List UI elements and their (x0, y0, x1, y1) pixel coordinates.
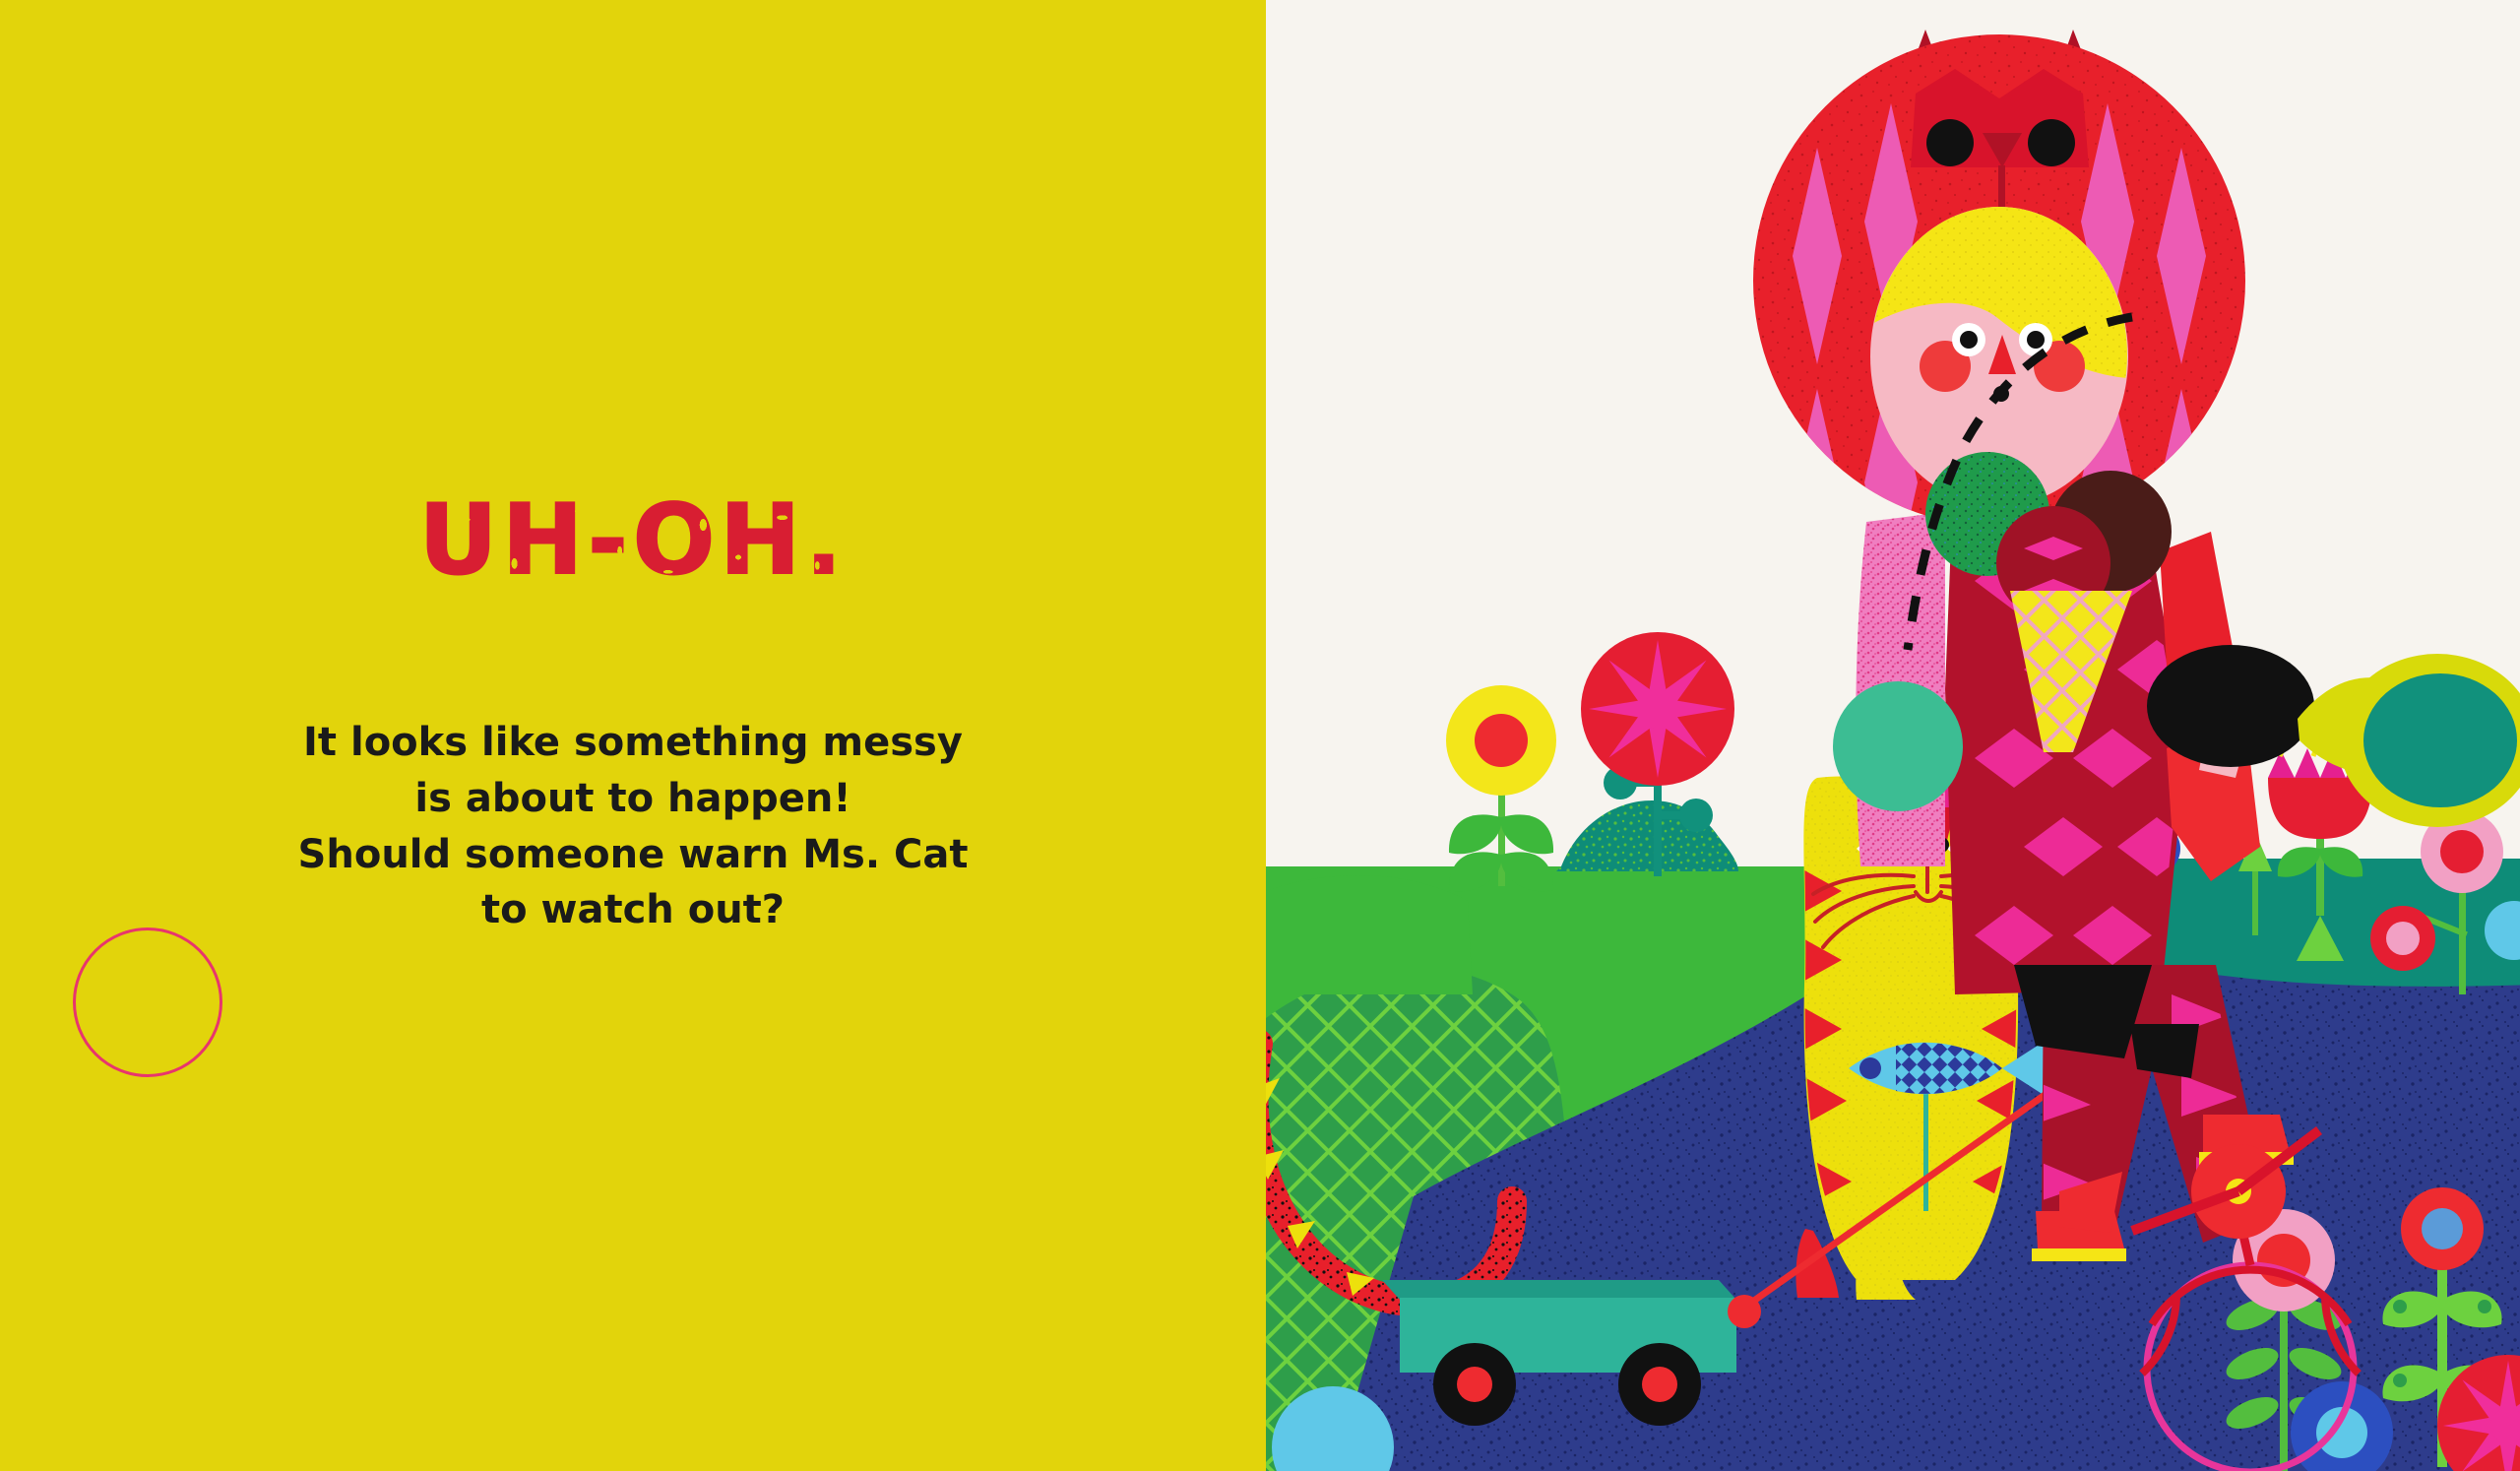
hood-eye-right (2028, 119, 2075, 166)
horn-bell (2363, 673, 2517, 807)
body-line-1: It looks like something messy (0, 715, 1266, 771)
leash-grip (1728, 1295, 1761, 1328)
horn-bulb (2147, 645, 2314, 767)
body-copy: It looks like something messy is about t… (0, 715, 1266, 938)
left-text-page: UH-OH. It looks like something messy is … (0, 0, 1266, 1471)
pink-circle-decoration (73, 927, 222, 1077)
body-line-3: Should someone warn Ms. Cat (0, 827, 1266, 883)
right-illustration-page (1266, 0, 2520, 1471)
illustration-artwork (1266, 0, 2520, 1471)
hood-eye-left (1926, 119, 1974, 166)
page-headline: UH-OH. (0, 492, 1266, 589)
book-spread: UH-OH. It looks like something messy is … (0, 0, 2520, 1471)
body-line-4: to watch out? (0, 882, 1266, 938)
hill-green-small (1266, 875, 1473, 994)
headline-text: UH-OH. (419, 492, 848, 589)
body-line-2: is about to happen! (0, 771, 1266, 827)
falling-scoop (1833, 681, 1963, 811)
flower-yellow-red-center (1446, 685, 1556, 891)
